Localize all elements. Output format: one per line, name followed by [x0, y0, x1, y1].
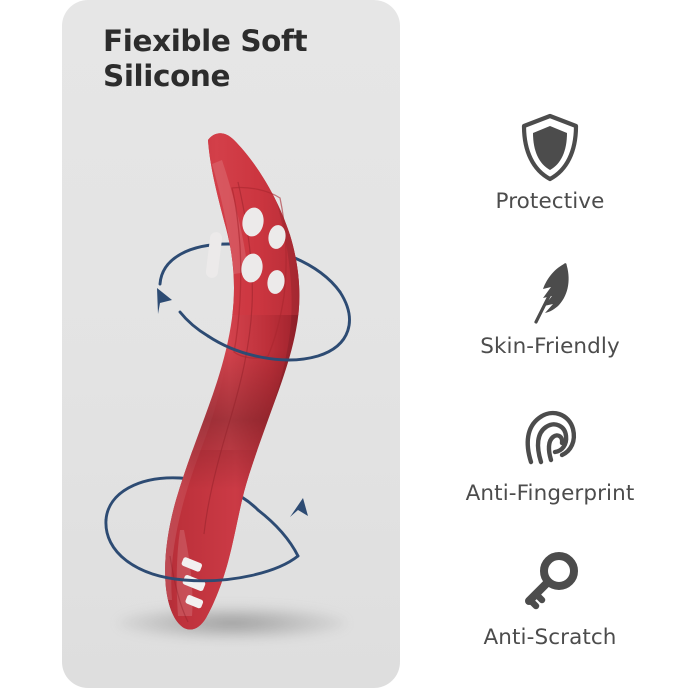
product-infographic: Fiexible Soft Silicone: [0, 0, 700, 700]
feature-item-anti-scratch: Anti-Scratch: [400, 548, 700, 650]
feature-label-skin-friendly: Skin-Friendly: [400, 335, 700, 359]
feature-item-anti-fingerprint: Anti-Fingerprint: [400, 404, 700, 506]
feature-list: Protective Skin-Friendly: [400, 0, 700, 700]
hero-panel: Fiexible Soft Silicone: [62, 0, 400, 688]
fingerprint-icon: [400, 404, 700, 476]
feather-icon: [400, 257, 700, 329]
feature-item-protective: Protective: [400, 112, 700, 214]
key-icon: [400, 548, 700, 620]
side-button-cutout: [205, 231, 223, 278]
rotation-arrowhead-top: [157, 288, 172, 314]
feature-item-skin-friendly: Skin-Friendly: [400, 257, 700, 359]
feature-label-protective: Protective: [400, 190, 700, 214]
feature-label-anti-scratch: Anti-Scratch: [400, 626, 700, 650]
shield-icon: [400, 112, 700, 184]
rotation-arrowhead-bottom: [290, 498, 308, 517]
feature-label-anti-fingerprint: Anti-Fingerprint: [400, 482, 700, 506]
product-image: [62, 0, 400, 688]
phone-case-illustration: [62, 0, 400, 688]
